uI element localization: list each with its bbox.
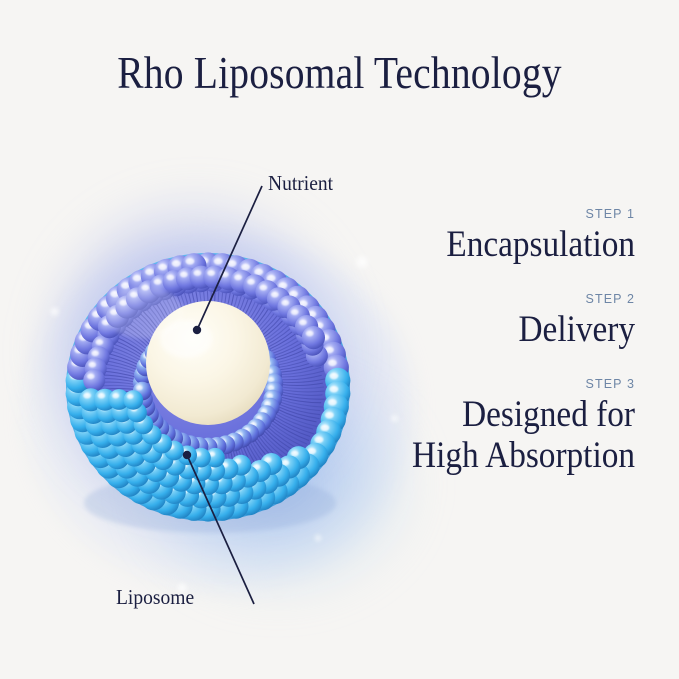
callout-label-nutrient: Nutrient [268,171,333,195]
step-kicker-1: STEP 1 [305,206,635,222]
step-kicker-2: STEP 2 [305,291,635,307]
step-title-line: Delivery [338,309,635,350]
step-title-line: High Absorption [338,435,635,476]
step-title-line: Designed for [338,394,635,435]
step-item-2: STEP 2 Delivery [305,291,635,350]
steps-list: STEP 1 Encapsulation STEP 2 Delivery STE… [305,206,635,476]
liposome-highlight [104,287,184,339]
page-title: Rho Liposomal Technology [48,46,632,100]
sparkle-icon [314,534,322,542]
step-kicker-3: STEP 3 [305,376,635,392]
step-title-3: Designed for High Absorption [338,394,635,476]
step-item-3: STEP 3 Designed for High Absorption [305,376,635,476]
step-title-line: Encapsulation [338,224,635,265]
step-title-1: Encapsulation [338,224,635,265]
infographic-page: Rho Liposomal Technology [0,0,679,679]
step-title-2: Delivery [338,309,635,350]
step-item-1: STEP 1 Encapsulation [305,206,635,265]
callout-label-liposome: Liposome [116,585,194,609]
